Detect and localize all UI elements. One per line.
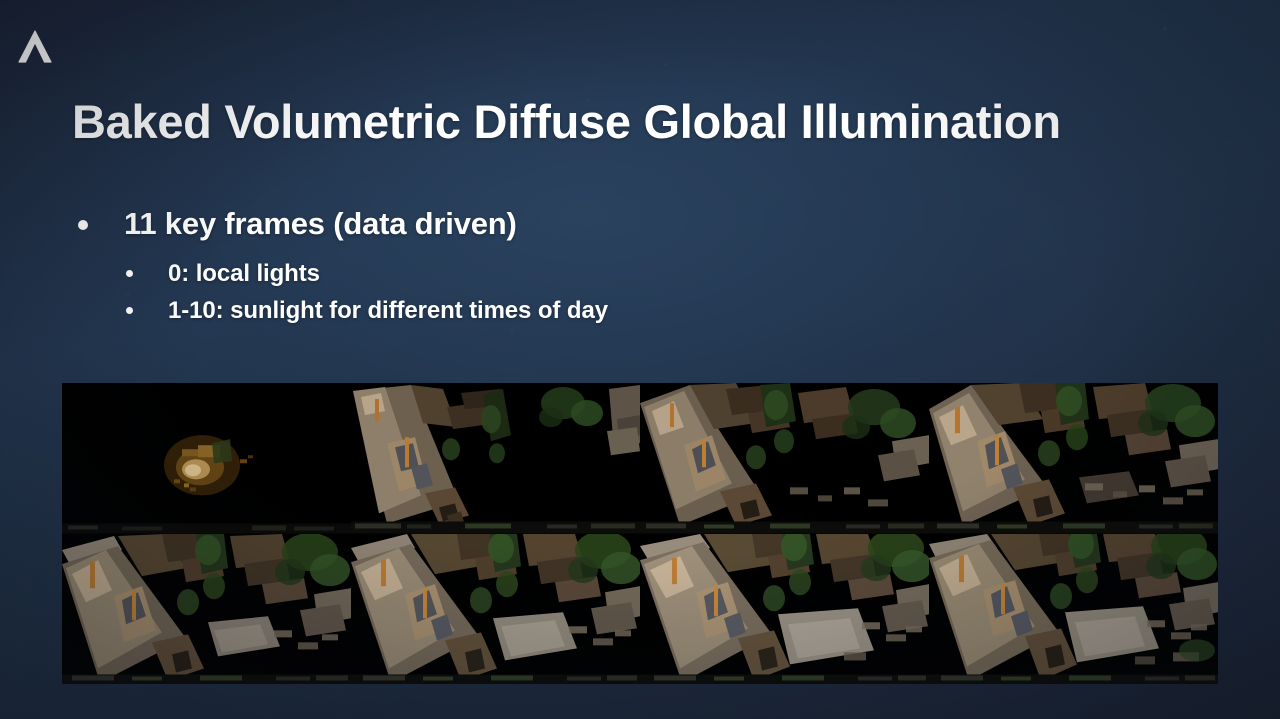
grid-tile-keyframe-1 — [351, 383, 640, 534]
grid-tile-keyframe-3 — [929, 383, 1218, 534]
bullet-item-main: 11 key frames (data driven) — [72, 205, 1172, 244]
bullet-sub-label: 1-10: sunlight for different times of da… — [168, 297, 608, 324]
bullet-item-sub-0: 0: local lights — [72, 258, 1172, 289]
grid-tile-keyframe-5 — [351, 534, 640, 685]
grid-tile-keyframe-2 — [640, 383, 929, 534]
bullet-sub-label: 0: local lights — [168, 260, 320, 287]
chevron-a-logo-icon — [17, 28, 53, 66]
bullet-list: 11 key frames (data driven) 0: local lig… — [72, 205, 1172, 332]
bullet-main-label: 11 key frames (data driven) — [124, 206, 517, 241]
bullet-marker-icon — [126, 270, 133, 277]
keyframe-image-grid — [62, 383, 1218, 684]
grid-tile-keyframe-7 — [929, 534, 1218, 685]
grid-tile-keyframe-4 — [62, 534, 351, 685]
bullet-item-sub-1: 1-10: sunlight for different times of da… — [72, 295, 1172, 326]
grid-tile-keyframe-0 — [62, 383, 351, 534]
slide-title: Baked Volumetric Diffuse Global Illumina… — [72, 94, 1061, 149]
presentation-slide: Baked Volumetric Diffuse Global Illumina… — [0, 0, 1280, 719]
bullet-marker-icon — [78, 220, 88, 230]
bullet-marker-icon — [126, 307, 133, 314]
grid-tile-keyframe-6 — [640, 534, 929, 685]
